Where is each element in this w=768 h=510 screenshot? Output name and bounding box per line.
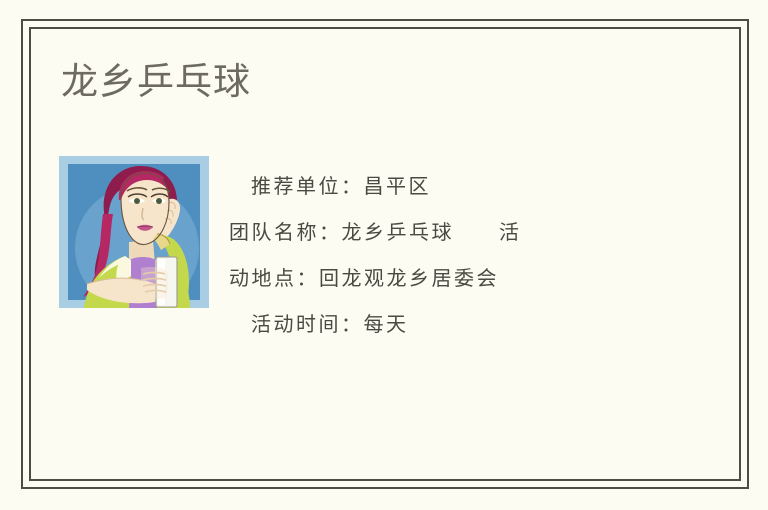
- page-title: 龙乡乒乓球: [61, 59, 251, 105]
- detail-line-team-name: 团队名称：龙乡乒乓球 活: [229, 209, 619, 255]
- detail-line-recommending-unit: 推荐单位：昌平区: [229, 163, 619, 209]
- activity-details: 推荐单位：昌平区 团队名称：龙乡乒乓球 活 动地点：回龙观龙乡居委会 活动时间：…: [229, 163, 619, 347]
- detail-line-activity-time: 活动时间：每天: [229, 301, 619, 347]
- poster-content: 龙乡乒乓球: [29, 27, 741, 481]
- illustration-image: [59, 156, 209, 308]
- poster-page: 龙乡乒乓球: [0, 0, 768, 510]
- woman-with-glass-icon: [59, 156, 209, 308]
- detail-line-activity-location: 动地点：回龙观龙乡居委会: [229, 255, 619, 301]
